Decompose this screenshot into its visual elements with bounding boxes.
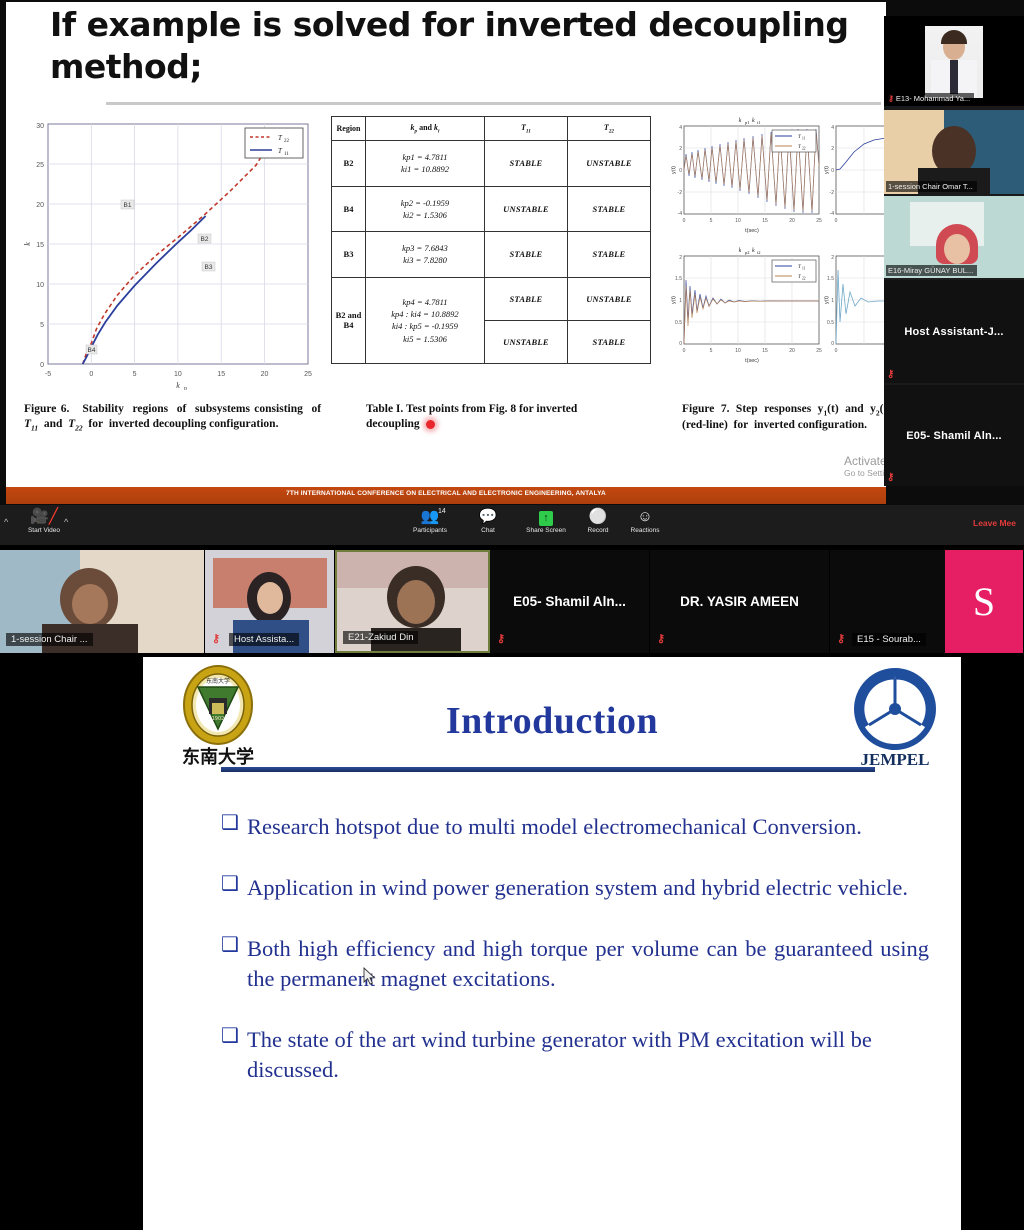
conference-banner: 7TH INTERNATIONAL CONFERENCE ON ELECTRIC…: [6, 487, 886, 504]
cell-t11: STABLE: [484, 232, 567, 278]
svg-text:15: 15: [217, 371, 225, 378]
svg-text:k: k: [739, 248, 742, 254]
svg-text:25: 25: [816, 218, 822, 224]
svg-text:5: 5: [710, 218, 713, 224]
slide-header: 东南大学 1902 东南大学 JEMPEL Introduction: [143, 657, 961, 775]
list-item: ❑ Both high efficiency and high torque p…: [221, 934, 929, 994]
table-row: B4 kp2 = -0.1959 ki2 = 1.5306 UNSTABLE S…: [332, 186, 651, 232]
svg-text:25: 25: [304, 371, 312, 378]
title-divider: [106, 102, 881, 105]
people-icon: 👥: [402, 508, 458, 526]
svg-text:1: 1: [831, 298, 834, 304]
mute-icon: ⚷: [212, 632, 220, 645]
cell-t22: STABLE: [567, 186, 650, 232]
svg-text:-5: -5: [45, 371, 51, 378]
gain-kp: kp1 = 4.7811: [368, 151, 482, 163]
cell-region: B3: [332, 232, 366, 278]
participant-photo: [925, 26, 983, 98]
share-screen-icon: ↑: [518, 508, 574, 526]
reactions-label: Reactions: [622, 527, 668, 534]
svg-text:11: 11: [802, 267, 806, 271]
participant-tile-miray[interactable]: E16-Miray GÜNAY BUL...: [884, 196, 1024, 278]
mute-icon: ⚷: [657, 632, 665, 645]
list-item: ❑ Research hotspot due to multi model el…: [221, 812, 929, 842]
list-item: ❑ Application in wind power generation s…: [221, 873, 929, 903]
participant-name: 1-session Chair ...: [6, 633, 93, 646]
svg-text:0.5: 0.5: [827, 320, 834, 326]
svg-text:0: 0: [683, 218, 686, 224]
cell-gains: kp2 = -0.1959 ki2 = 1.5306: [366, 186, 485, 232]
svg-text:y(t): y(t): [671, 166, 677, 174]
conference-banner-text: 7TH INTERNATIONAL CONFERENCE ON ELECTRIC…: [6, 490, 886, 497]
participant-name: E15 - Sourab...: [852, 633, 926, 646]
svg-text:k: k: [176, 381, 180, 390]
share-screen-button[interactable]: ↑ Share Screen: [518, 508, 574, 534]
reactions-emoji-icon: ☺: [622, 508, 668, 526]
svg-text:0: 0: [679, 168, 682, 174]
svg-text:30: 30: [36, 123, 44, 130]
avatar: S: [945, 550, 1023, 653]
svg-text:20: 20: [789, 218, 795, 224]
svg-text:0: 0: [831, 341, 834, 347]
svg-text:p: p: [184, 386, 187, 390]
svg-text:0: 0: [89, 371, 93, 378]
participant-name: DR. YASIR AMEEN: [650, 550, 829, 653]
slide-title: If example is solved for inverted decoup…: [50, 4, 880, 88]
filmstrip-cell-zakiud-din[interactable]: E21-Zakiud Din: [335, 550, 490, 653]
svg-text:B2: B2: [201, 236, 209, 243]
mute-icon: ⚷: [887, 472, 894, 483]
cell-gains: kp1 = 4.7811 ki1 = 10.8892: [366, 141, 485, 187]
svg-text:i2: i2: [757, 250, 761, 255]
svg-text:1.5: 1.5: [675, 276, 682, 282]
participant-tile-mohammad[interactable]: ⚷E13- Mohammad Ya...: [884, 16, 1024, 106]
zoom-control-bar[interactable]: ^ 🎥╱ Start Video ^ 👥 14 Participants 💬 C…: [0, 505, 1024, 545]
svg-text:东南大学: 东南大学: [206, 677, 230, 685]
svg-text:k: k: [752, 118, 755, 124]
svg-text:25: 25: [816, 348, 822, 354]
svg-text:4: 4: [831, 125, 834, 131]
svg-text:2: 2: [831, 255, 834, 261]
filmstrip-cell-yasir-ameen[interactable]: DR. YASIR AMEEN ⚷: [650, 550, 830, 653]
laser-pointer-dot: [426, 420, 435, 429]
figure7-step-responses: k p1 k i1 42 0-2-4: [668, 114, 886, 384]
table-row: B2 kp1 = 4.7811 ki1 = 10.8892 STABLE UNS…: [332, 141, 651, 187]
svg-text:y(t): y(t): [824, 296, 830, 304]
participant-name: ⚷E13- Mohammad Ya...: [886, 93, 974, 104]
th-t11: T11: [484, 117, 567, 141]
participant-name: Host Assista...: [229, 633, 299, 646]
svg-text:2: 2: [679, 255, 682, 261]
shared-screen-slide: If example is solved for inverted decoup…: [6, 2, 886, 487]
chat-label: Chat: [466, 527, 510, 534]
chevron-up-icon-left[interactable]: ^: [4, 517, 8, 527]
leave-meeting-button[interactable]: Leave Mee: [973, 518, 1016, 528]
cell-t22: STABLE: [567, 232, 650, 278]
svg-text:0.5: 0.5: [675, 320, 682, 326]
svg-text:t(sec): t(sec): [745, 228, 759, 234]
header-divider: [221, 767, 875, 772]
figure6-caption: Figure 6. Stability regions of subsystem…: [24, 402, 324, 434]
svg-text:0: 0: [683, 348, 686, 354]
slide-title: Introduction: [143, 699, 961, 743]
table-caption-line2: decoupling: [366, 418, 420, 430]
gain-ki: ki3 = 7.8280: [368, 254, 482, 266]
svg-text:20: 20: [261, 371, 269, 378]
checkbox-bullet-icon: ❑: [221, 873, 247, 903]
gain-ki4: kp4 : ki4 = 10.8892: [368, 308, 482, 320]
filmstrip-cell-host-assistant[interactable]: ⚷ Host Assista...: [205, 550, 335, 653]
participant-name: E05- Shamil Aln...: [490, 550, 649, 653]
th-t22: T22: [567, 117, 650, 141]
gain-ki: ki2 = 1.5306: [368, 209, 482, 221]
svg-text:i1: i1: [757, 120, 761, 125]
participant-name: E16-Miray GÜNAY BUL...: [886, 265, 977, 276]
svg-text:11: 11: [802, 137, 806, 141]
participant-tile-shamil[interactable]: E05- Shamil Aln... ⚷: [884, 385, 1024, 486]
caption-t22-symbol: T22: [68, 418, 83, 430]
cell-t11: UNSTABLE: [484, 320, 567, 363]
chat-button[interactable]: 💬 Chat: [466, 508, 510, 534]
cell-t11: STABLE: [484, 277, 567, 320]
bullet-text: Both high efficiency and high torque per…: [247, 934, 929, 994]
cell-t11: STABLE: [484, 141, 567, 187]
participant-name: Host Assistant-J...: [884, 280, 1024, 383]
svg-text:15: 15: [762, 218, 768, 224]
cell-t11: UNSTABLE: [484, 186, 567, 232]
th-gains: kp and ki: [366, 117, 485, 141]
participants-label: Participants: [402, 527, 458, 534]
figure7-svg: k p1 k i1 42 0-2-4: [668, 114, 886, 384]
cell-gains: kp3 = 7.6843 ki3 = 7.8280: [366, 232, 485, 278]
svg-text:22: 22: [802, 147, 806, 151]
svg-text:5: 5: [133, 371, 137, 378]
filmstrip-cell-shamil[interactable]: E05- Shamil Aln... ⚷: [490, 550, 650, 653]
gain-kp: kp2 = -0.1959: [368, 197, 482, 209]
table-row: B2 and B4 kp4 = 4.7811 kp4 : ki4 = 10.88…: [332, 277, 651, 320]
caption-t11-symbol: T11: [24, 418, 38, 430]
chevron-up-icon-right[interactable]: ^: [64, 517, 68, 527]
svg-text:25: 25: [36, 162, 44, 169]
svg-text:B3: B3: [205, 264, 213, 271]
participants-count: 14: [438, 508, 446, 515]
mute-icon: ⚷: [837, 632, 845, 645]
checkbox-bullet-icon: ❑: [221, 934, 247, 994]
svg-text:y(t): y(t): [824, 166, 830, 174]
table-test-points: Region kp and ki T11 T22 B2 kp1 = 4.7811…: [331, 116, 651, 364]
table-caption-line1: Table I. Test points from Fig. 8 for inv…: [366, 403, 577, 415]
participant-tile-host-assistant[interactable]: Host Assistant-J... ⚷: [884, 280, 1024, 383]
svg-text:0: 0: [40, 362, 44, 369]
svg-text:B4: B4: [88, 347, 96, 354]
table-row: B3 kp3 = 7.6843 ki3 = 7.8280 STABLE STAB…: [332, 232, 651, 278]
svg-text:10: 10: [36, 282, 44, 289]
activate-windows-watermark: Activate Windows Go to Settings to activ…: [844, 454, 886, 478]
bullet-text: Research hotspot due to multi model elec…: [247, 812, 862, 842]
svg-text:k: k: [739, 118, 742, 124]
participant-name: 1-session Chair Omar T...: [886, 181, 977, 192]
filmstrip-cell-session-chair[interactable]: 1-session Chair ...: [0, 550, 205, 653]
svg-text:B1: B1: [124, 202, 132, 209]
zoom-meeting-window: If example is solved for inverted decoup…: [0, 0, 1024, 545]
svg-text:-2: -2: [830, 190, 835, 196]
reactions-button[interactable]: ☺ Reactions: [622, 508, 668, 534]
mouse-cursor: [363, 967, 376, 986]
bullet-list: ❑ Research hotspot due to multi model el…: [221, 812, 929, 1116]
record-circle-icon: ⚪: [578, 508, 618, 526]
start-video-label: Start Video: [14, 527, 74, 534]
svg-text:20: 20: [789, 348, 795, 354]
filmstrip-cell-sourab[interactable]: S ⚷ E15 - Sourab...: [830, 550, 1024, 653]
svg-text:k: k: [23, 242, 32, 246]
mute-icon: ⚷: [887, 369, 894, 380]
svg-text:4: 4: [679, 125, 682, 131]
bullet-text: Application in wind power generation sys…: [247, 873, 908, 903]
participant-sidebar[interactable]: ⚷E13- Mohammad Ya... 1-session Chair Oma…: [884, 16, 1024, 486]
gain-kp5: ki4 : kp5 = -0.1959: [368, 320, 482, 332]
svg-text:东南大学: 东南大学: [182, 746, 254, 768]
cell-t22: STABLE: [567, 320, 650, 363]
participant-name: E21-Zakiud Din: [343, 631, 418, 644]
svg-text:10: 10: [735, 348, 741, 354]
cell-t22: UNSTABLE: [567, 277, 650, 320]
gain-ki5: ki5 = 1.5306: [368, 333, 482, 345]
th-region: Region: [332, 117, 366, 141]
svg-text:p2: p2: [745, 250, 750, 255]
watermark-subtitle: Go to Settings to activate Windows.: [844, 468, 886, 478]
cell-region: B2: [332, 141, 366, 187]
table-caption: Table I. Test points from Fig. 8 for inv…: [366, 402, 626, 433]
svg-text:-2: -2: [678, 190, 683, 196]
participant-name: E05- Shamil Aln...: [884, 385, 1024, 486]
participants-button[interactable]: 👥 14 Participants: [402, 508, 458, 534]
svg-text:10: 10: [174, 371, 182, 378]
cell-t22: UNSTABLE: [567, 141, 650, 187]
svg-text:t(sec): t(sec): [745, 358, 759, 364]
svg-text:y(t): y(t): [671, 296, 677, 304]
svg-text:k: k: [752, 248, 755, 254]
table-header-row: Region kp and ki T11 T22: [332, 117, 651, 141]
gain-kp: kp3 = 7.6843: [368, 242, 482, 254]
list-item: ❑ The state of the art wind turbine gene…: [221, 1025, 929, 1085]
screenshot-root: If example is solved for inverted decoup…: [0, 0, 1024, 1230]
svg-text:5: 5: [40, 322, 44, 329]
participant-filmstrip[interactable]: 1-session Chair ... ⚷ Host Assista... E2…: [0, 550, 1024, 653]
svg-text:15: 15: [36, 242, 44, 249]
figure6-svg: 05 1015 2025 30 -50 510 1520 25 k p: [20, 112, 320, 390]
svg-text:10: 10: [735, 218, 741, 224]
cell-region: B2 and B4: [332, 277, 366, 363]
svg-text:p1: p1: [745, 120, 750, 125]
introduction-slide: 东南大学 1902 东南大学 JEMPEL Introduction: [143, 657, 961, 1230]
watermark-title: Activate Windows: [844, 454, 886, 468]
cell-region: B4: [332, 186, 366, 232]
svg-text:5: 5: [710, 348, 713, 354]
svg-text:0: 0: [835, 348, 838, 354]
svg-text:22: 22: [802, 277, 806, 281]
chat-bubble-icon: 💬: [466, 508, 510, 526]
svg-text:0: 0: [831, 168, 834, 174]
svg-text:20: 20: [36, 202, 44, 209]
record-label: Record: [578, 527, 618, 534]
gain-ki: ki1 = 10.8892: [368, 163, 482, 175]
bullet-text: The state of the art wind turbine genera…: [247, 1025, 929, 1085]
figure7-caption: Figure 7. Step responses y1(t) and y2(t)…: [682, 402, 886, 434]
svg-text:22: 22: [284, 139, 290, 144]
svg-text:15: 15: [762, 348, 768, 354]
mute-icon: ⚷: [497, 632, 505, 645]
svg-text:0: 0: [835, 218, 838, 224]
participant-tile-session-chair[interactable]: 1-session Chair Omar T...: [884, 110, 1024, 194]
svg-text:0: 0: [679, 341, 682, 347]
mute-icon: ⚷: [888, 94, 894, 103]
cell-gains: kp4 = 4.7811 kp4 : ki4 = 10.8892 ki4 : k…: [366, 277, 485, 363]
record-button[interactable]: ⚪ Record: [578, 508, 618, 534]
svg-text:2: 2: [831, 146, 834, 152]
svg-text:11: 11: [284, 152, 289, 157]
introduction-slide-region: 东南大学 1902 东南大学 JEMPEL Introduction: [0, 657, 1024, 1230]
svg-text:1: 1: [679, 298, 682, 304]
gain-kp4: kp4 = 4.7811: [368, 296, 482, 308]
svg-text:2: 2: [679, 146, 682, 152]
checkbox-bullet-icon: ❑: [221, 1025, 247, 1085]
checkbox-bullet-icon: ❑: [221, 812, 247, 842]
figure6-stability-chart: 05 1015 2025 30 -50 510 1520 25 k p: [20, 112, 320, 390]
svg-text:-4: -4: [830, 211, 835, 217]
share-screen-label: Share Screen: [518, 527, 574, 534]
svg-text:1.5: 1.5: [827, 276, 834, 282]
svg-text:-4: -4: [678, 211, 683, 217]
